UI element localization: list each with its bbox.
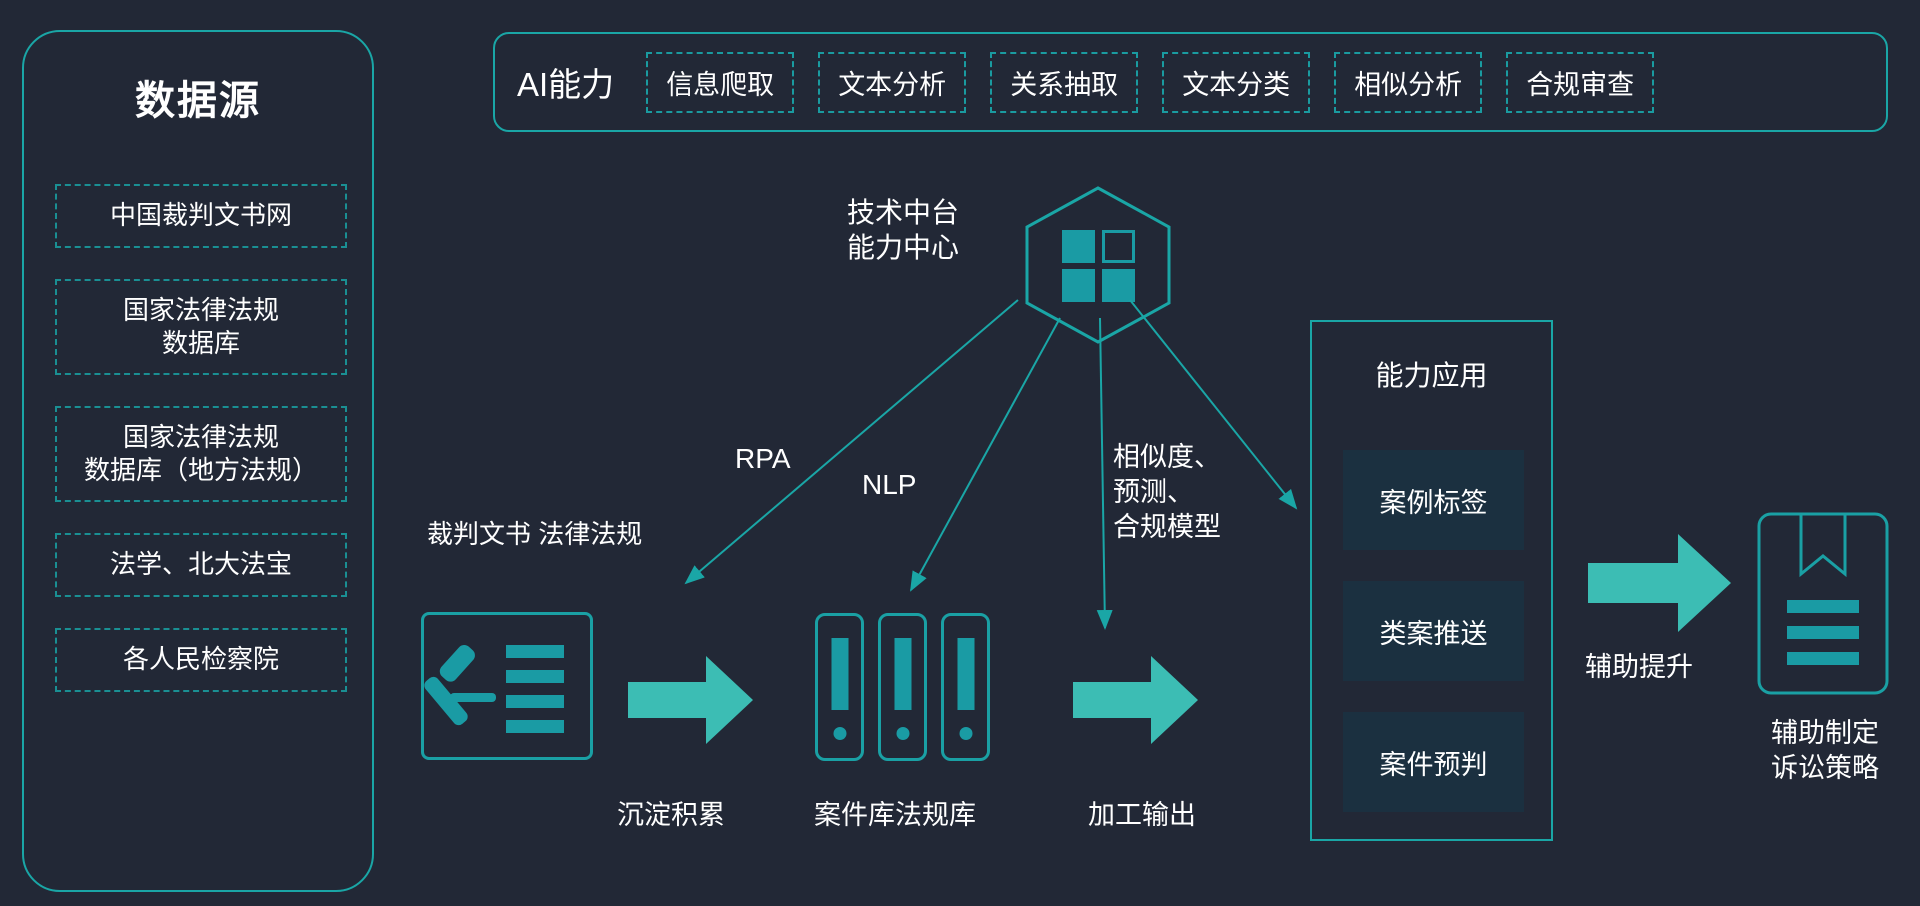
data-source-item-label: 国家法律法规 数据库（地方法规） bbox=[84, 421, 318, 488]
server-unit bbox=[878, 613, 927, 761]
processing-output-caption: 加工输出 bbox=[1088, 793, 1196, 832]
data-source-item[interactable]: 国家法律法规 数据库（地方法规） bbox=[55, 406, 347, 502]
connector-label-model: 相似度、 预测、 合规模型 bbox=[1113, 440, 1221, 545]
ai-capability-bar: AI能力 信息爬取 文本分析 关系抽取 文本分类 相似分析 合规审查 bbox=[493, 32, 1888, 132]
data-source-item-label: 中国裁判文书网 bbox=[110, 199, 292, 232]
server-unit bbox=[815, 613, 864, 761]
capability-application-item[interactable]: 案例标签 bbox=[1343, 450, 1524, 550]
server-indicator-dot bbox=[833, 727, 846, 740]
ai-capability-chip[interactable]: 合规审查 bbox=[1506, 52, 1654, 113]
assist-improvement-caption: 辅助提升 bbox=[1585, 645, 1693, 684]
data-source-list: 中国裁判文书网 国家法律法规 数据库 国家法律法规 数据库（地方法规） 法学、北… bbox=[55, 184, 347, 723]
connector-label-nlp: NLP bbox=[862, 469, 916, 501]
ai-capability-chip[interactable]: 文本分类 bbox=[1162, 52, 1310, 113]
arrow-right-icon bbox=[1065, 650, 1205, 750]
server-bar bbox=[957, 638, 974, 710]
data-source-item[interactable]: 中国裁判文书网 bbox=[55, 184, 347, 248]
data-source-item[interactable]: 法学、北大法宝 bbox=[55, 533, 347, 597]
diagram-canvas: 数据源 中国裁判文书网 国家法律法规 数据库 国家法律法规 数据库（地方法规） … bbox=[0, 0, 1920, 906]
capability-application-item[interactable]: 类案推送 bbox=[1343, 581, 1524, 681]
gavel-document-icon bbox=[421, 612, 593, 760]
data-source-item[interactable]: 各人民检察院 bbox=[55, 628, 347, 692]
capability-application-title: 能力应用 bbox=[1312, 354, 1551, 394]
data-source-panel: 数据源 中国裁判文书网 国家法律法规 数据库 国家法律法规 数据库（地方法规） … bbox=[22, 30, 374, 892]
judgment-documents-caption: 沉淀积累 bbox=[617, 793, 725, 832]
server-unit bbox=[941, 613, 990, 761]
server-indicator-dot bbox=[959, 727, 972, 740]
case-database-caption: 案件库法规库 bbox=[814, 793, 976, 832]
ai-capability-chip[interactable]: 信息爬取 bbox=[646, 52, 794, 113]
ai-capability-chip[interactable]: 相似分析 bbox=[1334, 52, 1482, 113]
bookmark-document-icon bbox=[1757, 512, 1889, 695]
hub-label: 技术中台 能力中心 bbox=[847, 195, 959, 265]
judgment-documents-title: 裁判文书 法律法规 bbox=[427, 518, 642, 551]
data-source-item[interactable]: 国家法律法规 数据库 bbox=[55, 279, 347, 375]
connector-nlp bbox=[911, 318, 1060, 590]
data-source-item-label: 法学、北大法宝 bbox=[110, 548, 292, 581]
ai-capability-chip[interactable]: 文本分析 bbox=[818, 52, 966, 113]
litigation-strategy-caption: 辅助制定 诉讼策略 bbox=[1720, 716, 1920, 786]
arrow-right-icon bbox=[1583, 528, 1738, 638]
connector-model bbox=[1100, 318, 1105, 628]
data-source-item-label: 国家法律法规 数据库 bbox=[123, 294, 279, 361]
capability-application-list: 案例标签 类案推送 案件预判 bbox=[1343, 450, 1524, 843]
data-source-item-label: 各人民检察院 bbox=[123, 643, 279, 676]
server-bar bbox=[894, 638, 911, 710]
server-bar bbox=[831, 638, 848, 710]
server-stack-icon bbox=[815, 613, 990, 761]
connector-rpa bbox=[686, 300, 1018, 583]
connector-label-rpa: RPA bbox=[735, 443, 791, 475]
capability-application-panel: 能力应用 案例标签 类案推送 案件预判 bbox=[1310, 320, 1553, 841]
ai-capability-label: AI能力 bbox=[517, 58, 622, 106]
server-indicator-dot bbox=[896, 727, 909, 740]
arrow-right-icon bbox=[620, 650, 760, 750]
hexagon-grid-icon bbox=[1022, 185, 1174, 345]
ai-capability-chip[interactable]: 关系抽取 bbox=[990, 52, 1138, 113]
data-source-title: 数据源 bbox=[24, 68, 372, 126]
capability-application-item[interactable]: 案件预判 bbox=[1343, 712, 1524, 812]
